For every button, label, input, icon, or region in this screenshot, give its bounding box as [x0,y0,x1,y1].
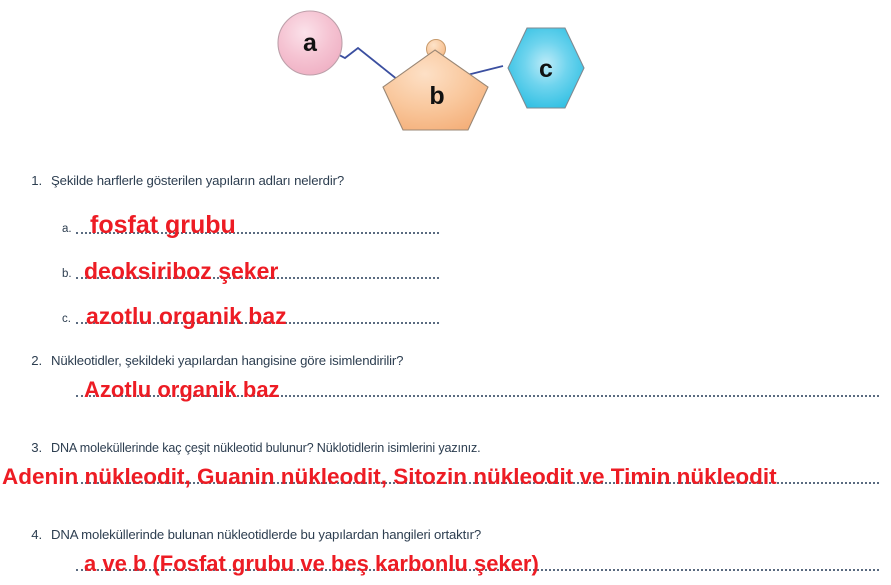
answer-b-value: deoksiriboz şeker [84,260,278,283]
question-3-answer-row[interactable]: Adenin nükleodit, Guanin nükleodit, Sito… [0,457,891,489]
question-2-number: 2. [16,353,42,368]
answer-c-label: c. [62,313,71,325]
answer-a-label: a. [62,223,72,235]
question-4-number: 4. [16,527,42,542]
question-4-text: DNA moleküllerinde bulunan nükleotidlerd… [51,527,481,542]
question-2-answer-row[interactable]: Azotlu organik baz [0,372,891,402]
question-2-text: Nükleotidler, şekildeki yapılardan hangi… [51,353,403,368]
question-3-text: DNA moleküllerinde kaç çeşit nükleotid b… [51,441,481,455]
question-1: 1. Şekilde harflerle gösterilen yapıları… [0,173,891,329]
nucleotide-diagram-svg: a b c [0,0,891,150]
question-4-answer-value: a ve b (Fosfat grubu ve beş karbonlu şek… [84,553,539,575]
question-1-answer-a-row[interactable]: a. fosfat grubu [0,201,891,239]
question-4-answer-row[interactable]: a ve b (Fosfat grubu ve beş karbonlu şek… [0,546,891,576]
nucleotide-diagram: a b c [0,0,891,150]
question-2-prompt: 2. Nükleotidler, şekildeki yapılardan ha… [0,353,891,368]
question-3: 3. DNA moleküllerinde kaç çeşit nükleoti… [0,440,891,489]
answer-b-label: b. [62,268,72,280]
answer-c-value: azotlu organik baz [86,305,287,328]
question-3-answer-value: Adenin nükleodit, Guanin nükleodit, Sito… [2,466,777,489]
shape-a-label: a [303,29,318,57]
question-4: 4. DNA moleküllerinde bulunan nükleotidl… [0,527,891,576]
question-3-prompt: 3. DNA moleküllerinde kaç çeşit nükleoti… [0,440,891,455]
question-4-prompt: 4. DNA moleküllerinde bulunan nükleotidl… [0,527,891,542]
question-2-answer-value: Azotlu organik baz [84,379,280,401]
question-1-prompt: 1. Şekilde harflerle gösterilen yapıları… [0,173,891,188]
shape-b-label: b [429,82,444,110]
question-2: 2. Nükleotidler, şekildeki yapılardan ha… [0,353,891,402]
answer-a-value: fosfat grubu [90,213,236,238]
question-3-number: 3. [16,440,42,455]
shape-c-label: c [539,55,553,83]
question-1-number: 1. [16,173,42,188]
question-1-answer-c-row[interactable]: c. azotlu organik baz [0,291,891,329]
question-1-answer-b-row[interactable]: b. deoksiriboz şeker [0,246,891,284]
question-1-text: Şekilde harflerle gösterilen yapıların a… [51,173,344,188]
